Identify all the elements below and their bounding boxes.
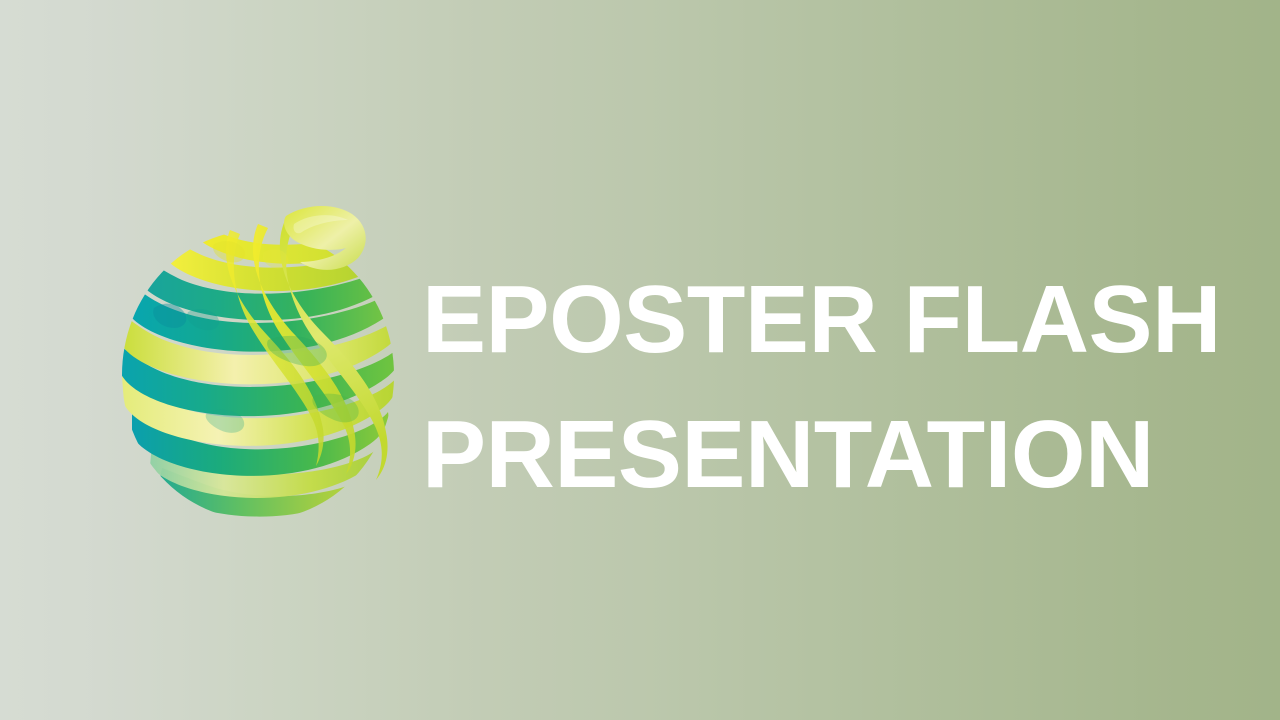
title-line-1: EPOSTER FLASH [422, 252, 1222, 387]
title-line-2: PRESENTATION [422, 387, 1222, 522]
page-title: EPOSTER FLASH PRESENTATION [422, 252, 1222, 522]
title-slide: EPOSTER FLASH PRESENTATION [0, 0, 1280, 720]
globe-ribbon-leaf-logo [118, 200, 408, 530]
